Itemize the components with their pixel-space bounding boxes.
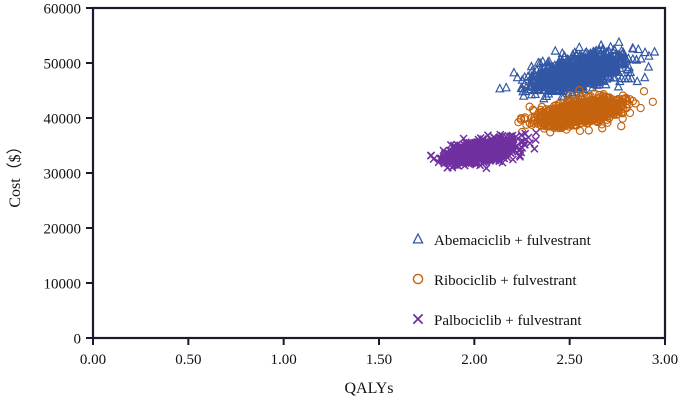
x-tick-label: 2.50 [557, 352, 583, 368]
x-tick-label: 1.00 [271, 352, 297, 368]
legend-item[interactable]: Ribociclib + fulvestrant [413, 273, 577, 289]
x-axis-title: QALYs [344, 380, 393, 397]
y-tick-label: 50000 [44, 57, 82, 73]
x-tick-label: 0.50 [175, 352, 201, 368]
x-tick-label: 1.50 [366, 352, 392, 368]
legend-label: Abemaciclib + fulvestrant [434, 233, 592, 249]
y-tick-label: 0 [74, 332, 82, 348]
y-tick-label: 60000 [44, 2, 82, 18]
legend-label: Ribociclib + fulvestrant [434, 273, 577, 289]
x-tick-label: 0.00 [80, 352, 106, 368]
x-tick-label: 3.00 [652, 352, 678, 368]
legend: Abemaciclib + fulvestrantRibociclib + fu… [413, 233, 591, 329]
y-tick-label: 10000 [44, 277, 82, 293]
x-tick-label: 2.00 [461, 352, 487, 368]
y-tick-label: 40000 [44, 112, 82, 128]
plot-canvas: 01000020000300004000050000600000.000.501… [0, 0, 685, 401]
y-tick-label: 20000 [44, 222, 82, 238]
legend-item[interactable]: Abemaciclib + fulvestrant [413, 233, 591, 249]
y-tick-label: 30000 [44, 167, 82, 183]
cost-effectiveness-scatter-figure: 01000020000300004000050000600000.000.501… [0, 0, 685, 401]
legend-item[interactable]: Palbociclib + fulvestrant [413, 313, 582, 329]
legend-label: Palbociclib + fulvestrant [434, 313, 582, 329]
y-axis-title: Cost（$） [6, 138, 24, 207]
